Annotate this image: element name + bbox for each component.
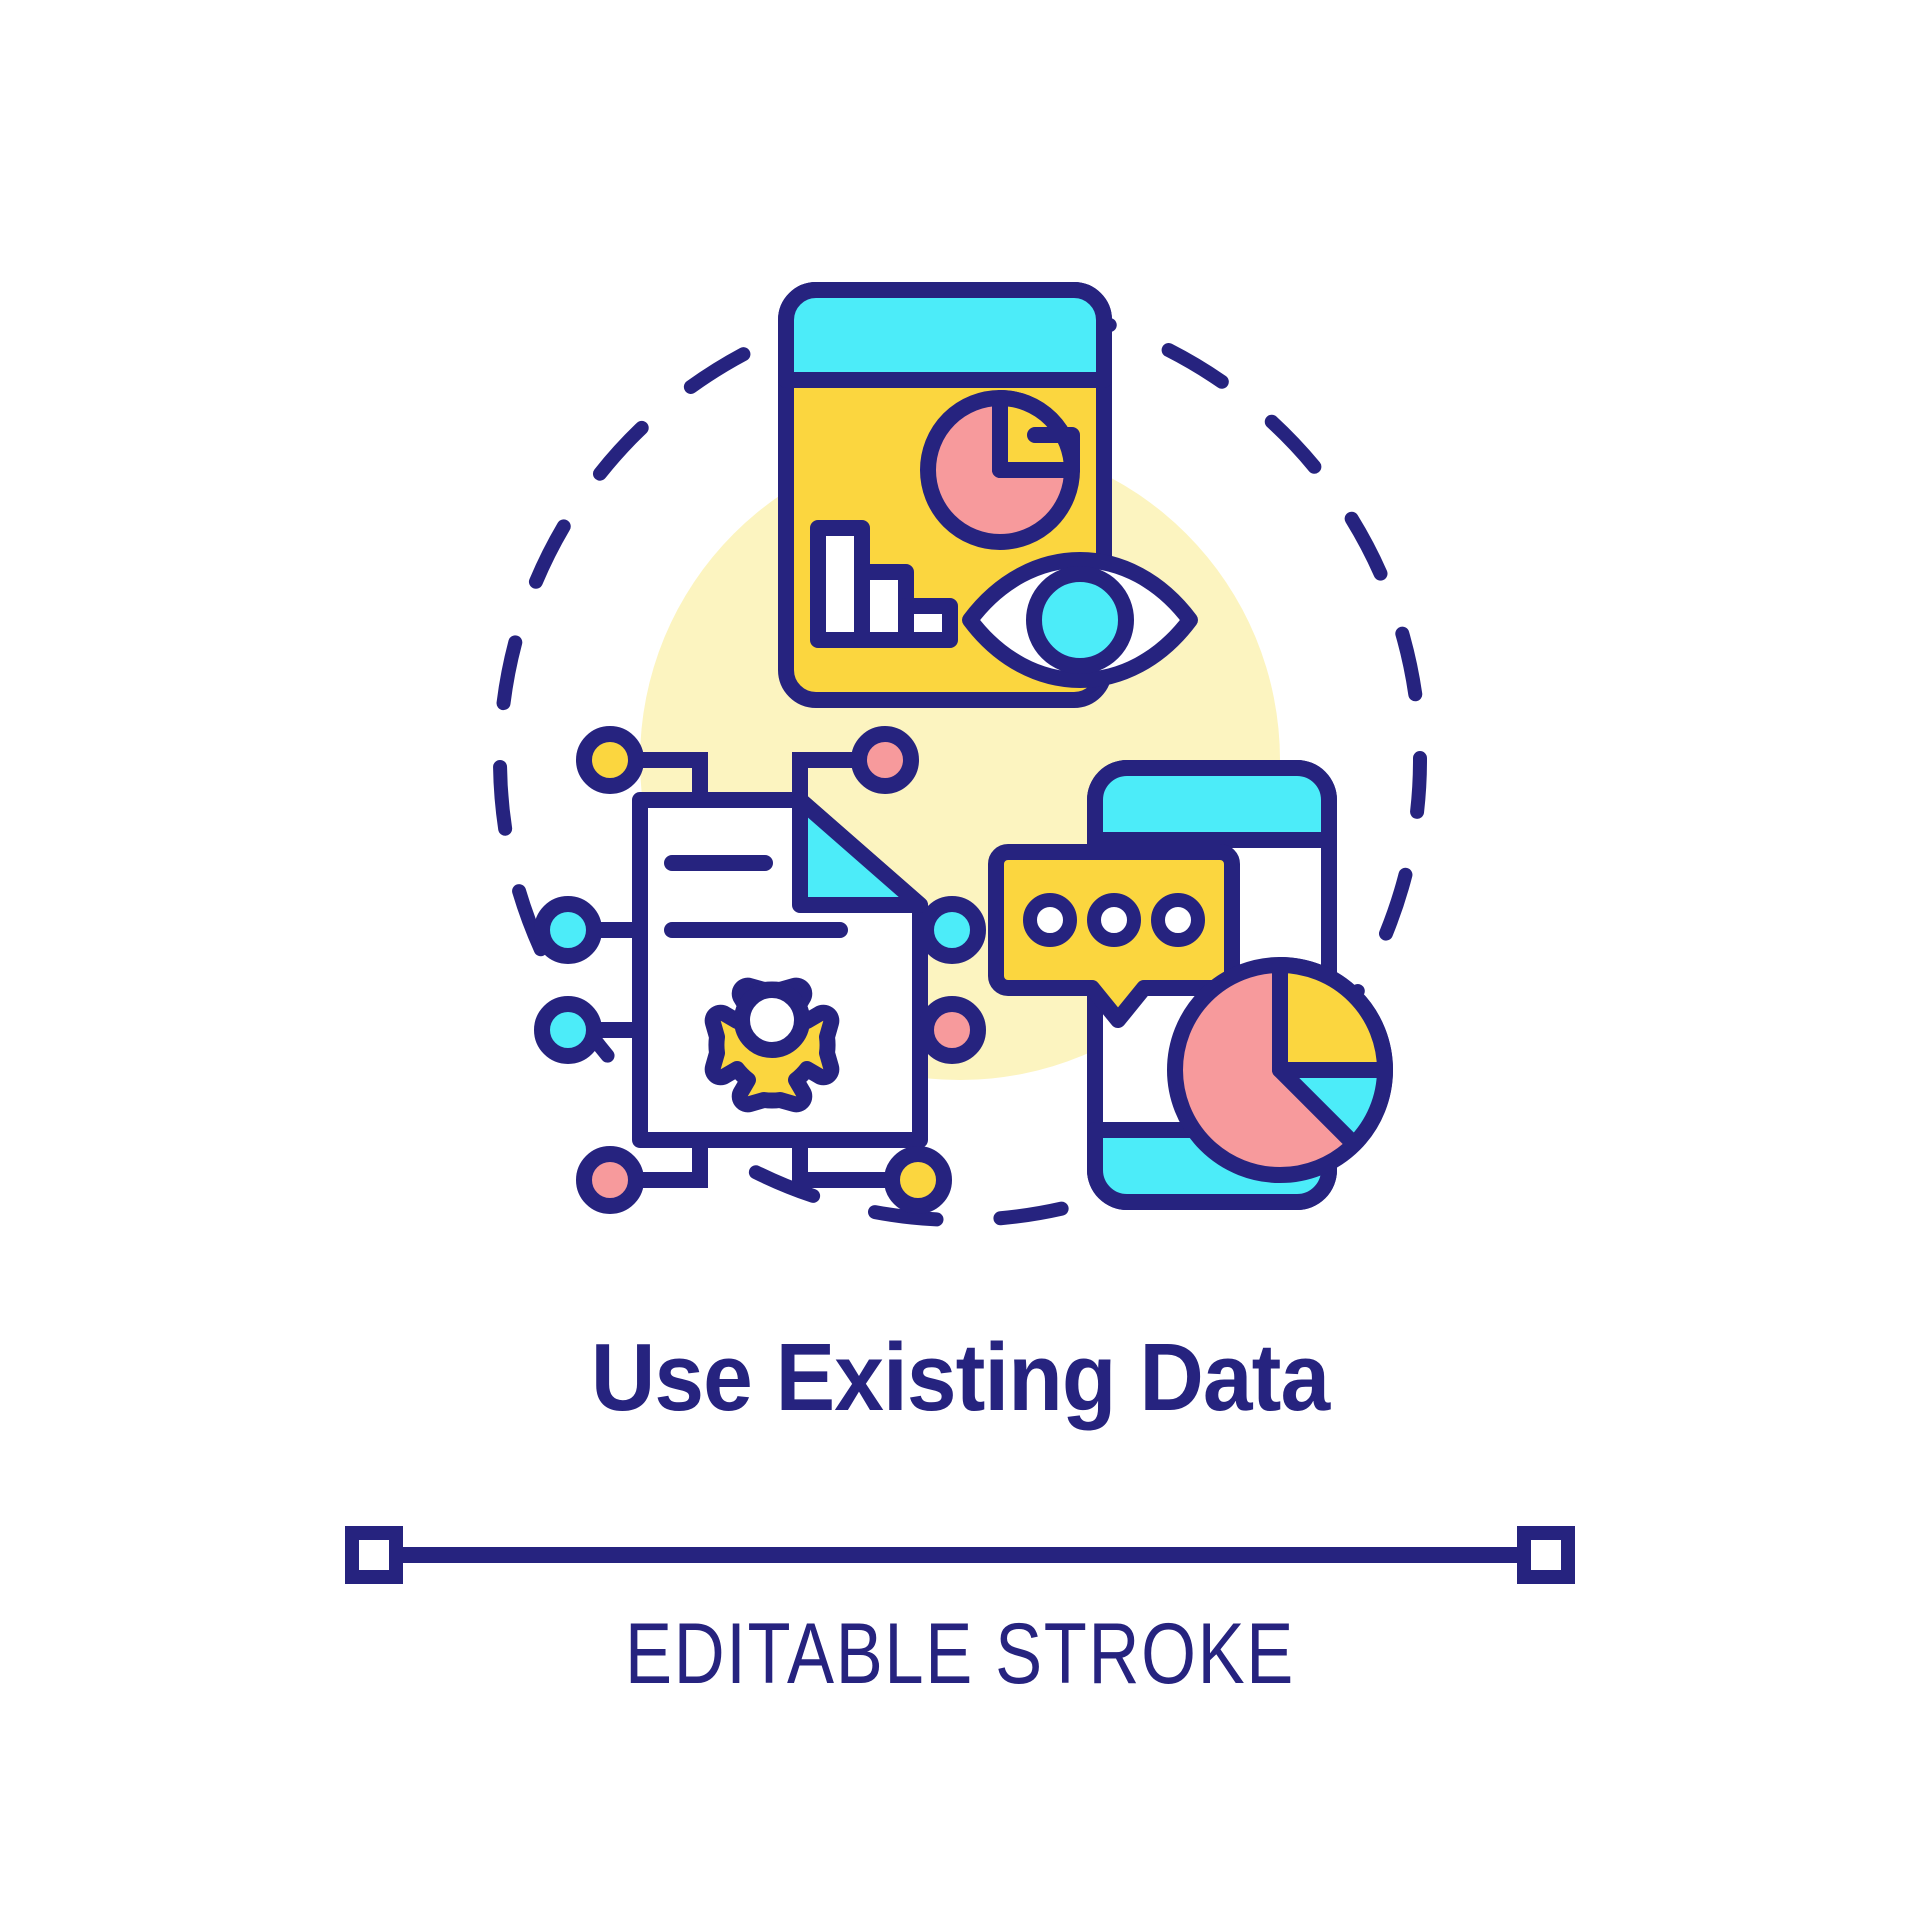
bar-3 — [906, 606, 950, 640]
phone-pie-chart-icon — [1175, 965, 1385, 1175]
stroke-rule-svg — [0, 1515, 1920, 1595]
gear-hub — [742, 990, 802, 1050]
phone-pie-slice-yellow — [1280, 965, 1385, 1070]
editable-stroke-label: EDITABLE STROKE — [173, 1605, 1747, 1704]
stroke-handle-left-icon[interactable] — [352, 1533, 396, 1577]
node-top-left — [584, 734, 636, 786]
chat-dot-1 — [1030, 900, 1070, 940]
node-right-upper — [926, 904, 978, 956]
node-top-right — [859, 734, 911, 786]
node-left-lower — [542, 1004, 594, 1056]
illustration-canvas — [0, 0, 1920, 1380]
eye-iris — [1034, 574, 1126, 666]
concept-icon-page: Use Existing Data EDITABLE STROKE — [0, 0, 1920, 1920]
caption-block: Use Existing Data — [0, 1330, 1920, 1426]
phone-top-bar — [1095, 768, 1329, 840]
node-bottom-right — [892, 1154, 944, 1206]
concept-illustration-svg — [0, 0, 1920, 1380]
eye-icon — [970, 560, 1190, 680]
report-pie-chart-icon — [928, 398, 1072, 542]
chat-dot-3 — [1158, 900, 1198, 940]
node-left-upper — [542, 904, 594, 956]
page-title: Use Existing Data — [67, 1330, 1853, 1426]
stroke-handle-right-icon[interactable] — [1524, 1533, 1568, 1577]
node-bottom-left — [584, 1154, 636, 1206]
editable-stroke-rule — [0, 1515, 1920, 1595]
report-card-titlebar — [786, 290, 1104, 380]
chat-dot-2 — [1094, 900, 1134, 940]
node-right-lower — [926, 1004, 978, 1056]
